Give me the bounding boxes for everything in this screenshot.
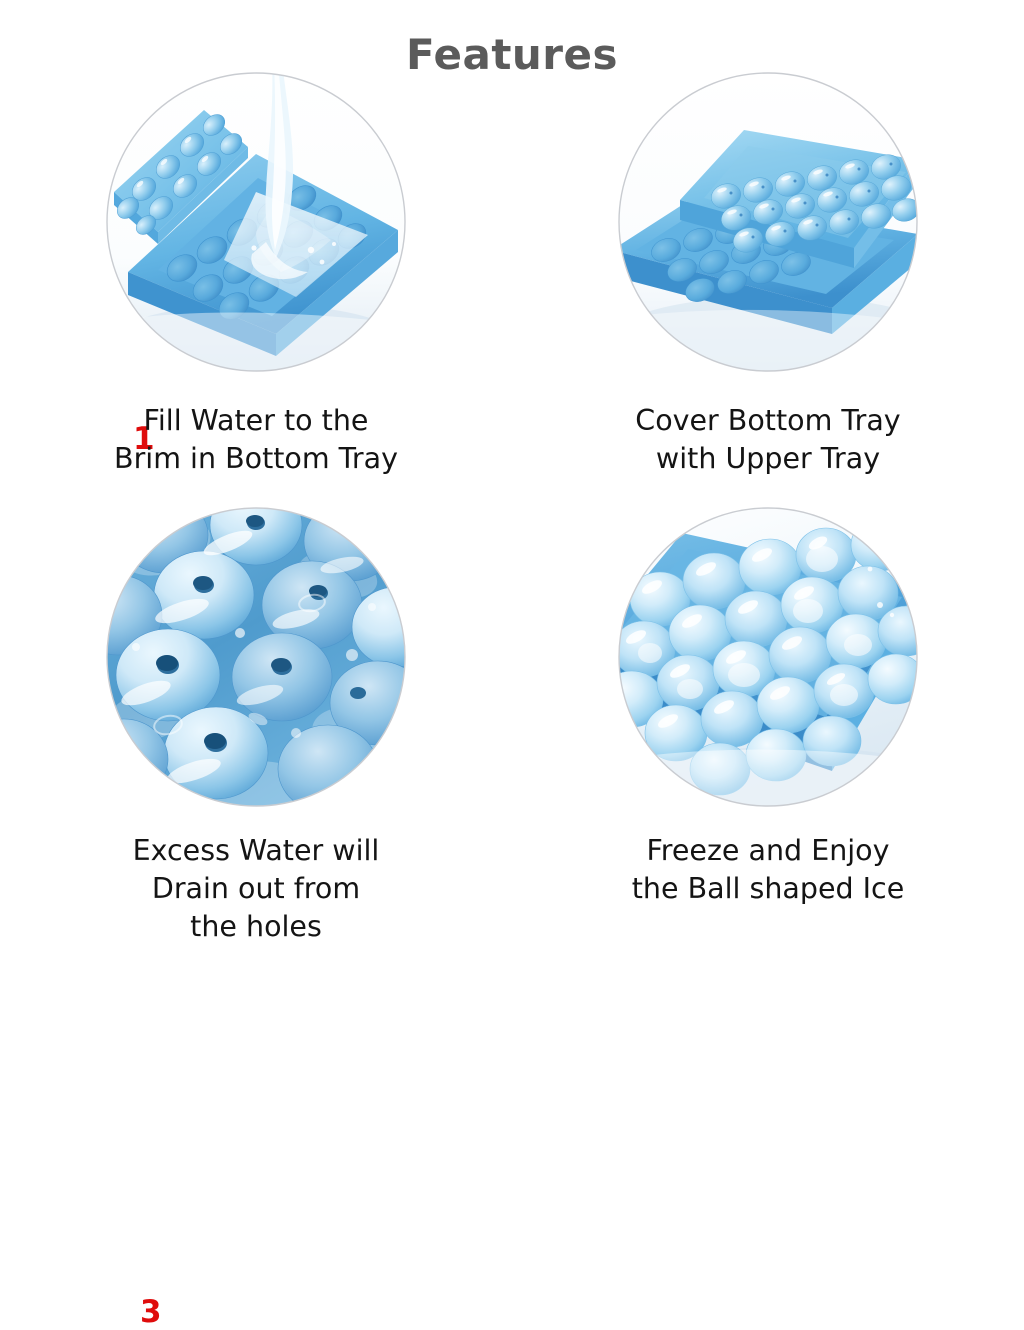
photo-filling-bottom-tray-with-water xyxy=(106,72,406,372)
step-card-2: 2 Cover Bottom Tray with Upper Tray xyxy=(512,72,1024,372)
steps-grid: 1 Fill Water to the Brim in Bottom Tray xyxy=(0,72,1024,1024)
step-card-3: 3 Excess Water will Drain out from the h… xyxy=(0,507,512,807)
photo-water-draining-through-holes xyxy=(106,507,406,807)
step-4-photo-wrap xyxy=(618,507,918,807)
photo-covering-tray-with-upper-tray xyxy=(618,72,918,372)
step-caption-1: Fill Water to the Brim in Bottom Tray xyxy=(0,402,512,478)
step-caption-4: Freeze and Enjoy the Ball shaped Ice xyxy=(512,832,1024,908)
step-1-photo-wrap xyxy=(106,72,406,372)
photo-frozen-ice-balls-in-tray xyxy=(618,507,918,807)
step-caption-2: Cover Bottom Tray with Upper Tray xyxy=(512,402,1024,478)
step-card-1: 1 Fill Water to the Brim in Bottom Tray xyxy=(0,72,512,372)
step-caption-3: Excess Water will Drain out from the hol… xyxy=(0,832,512,946)
step-number-3: 3 xyxy=(140,1297,162,1328)
features-infographic: Features xyxy=(0,0,1024,1024)
step-2-photo-wrap xyxy=(618,72,918,372)
step-3-photo-wrap xyxy=(106,507,406,807)
step-card-4: 4 Freeze and Enjoy the Ball shaped Ice xyxy=(512,507,1024,807)
